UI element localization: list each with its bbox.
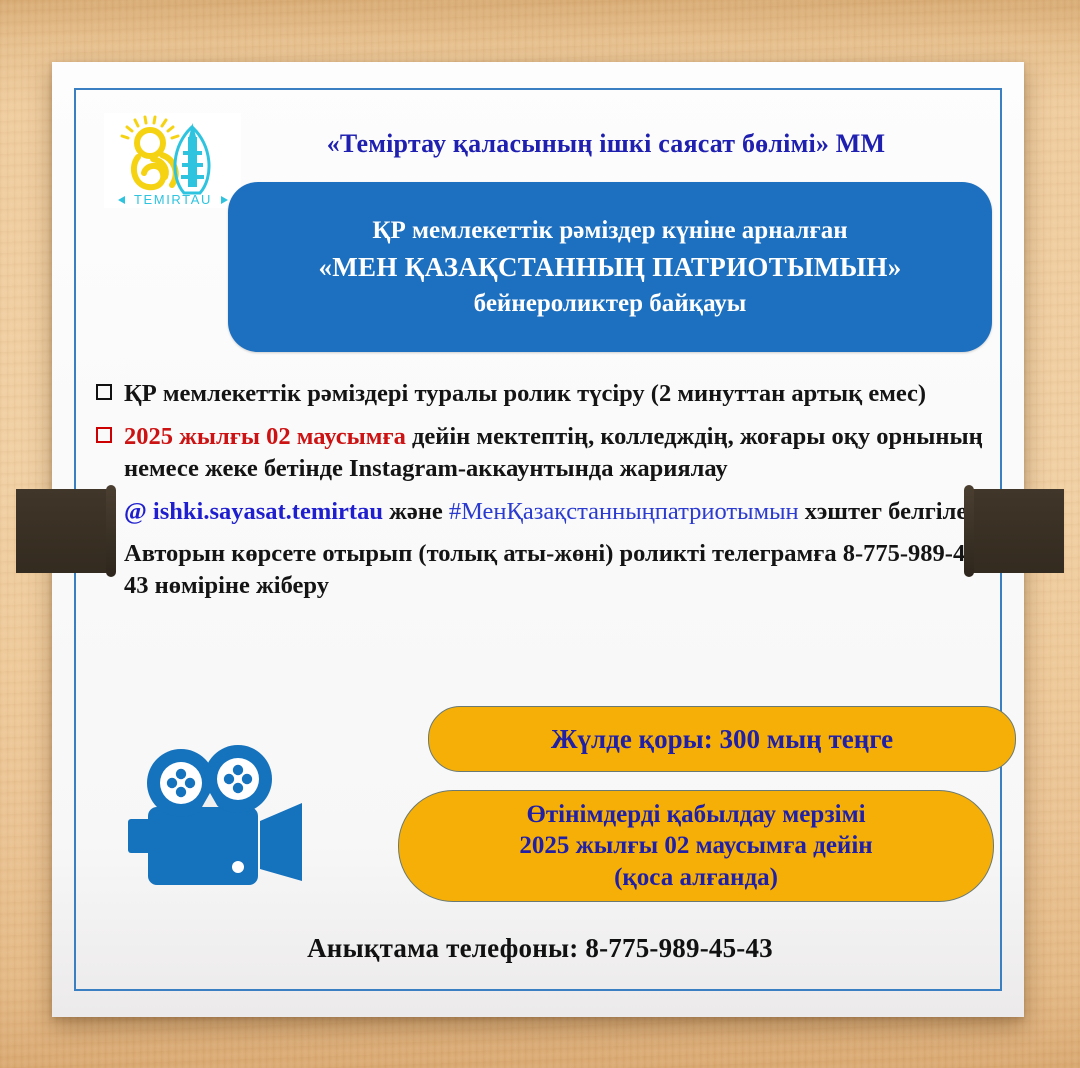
requirement-text: ҚР мемлекеттік рәміздері туралы ролик тү… <box>124 378 986 410</box>
logo-wordmark: TEMIRTAU <box>133 192 211 207</box>
requirement-text: Авторын көрсете отырып (толық аты-жөні) … <box>124 538 986 602</box>
organization-title: «Теміртау қаласының ішкі саясат бөлімі» … <box>248 129 964 159</box>
deadline-line-1: Өтінімдерді қабылдау мерзімі <box>526 799 865 831</box>
tower-icon <box>181 123 204 187</box>
temirtau-logo-svg: TEMIRTAU <box>108 115 238 207</box>
requirement-text-segment: @ ishki.sayasat.temirtau <box>124 498 383 525</box>
banner-line-1: ҚР мемлекеттік рәміздер күніне арналған <box>372 217 847 245</box>
requirement-text: 2025 жылғы 02 маусымға дейін мектептің, … <box>124 421 986 485</box>
requirement-text-segment: Авторын көрсете отырып (толық аты-жөні) … <box>124 540 986 599</box>
prize-fund-pill: Жүлде қоры: 300 мың теңге <box>428 706 1016 772</box>
requirement-text-segment: хэштег белгілеу <box>799 498 979 525</box>
temirtau-logo: TEMIRTAU <box>104 113 241 208</box>
deadline-pill: Өтінімдерді қабылдау мерзімі 2025 жылғы … <box>398 790 994 902</box>
binder-clip-left <box>16 489 112 573</box>
bullet-square-icon <box>96 384 112 400</box>
binder-clip-left-lip <box>106 485 116 577</box>
banner-line-2: «МЕН ҚАЗАҚСТАННЫҢ ПАТРИОТЫМЫН» <box>318 252 901 283</box>
contact-phone-line: Анықтама телефоны: 8-775-989-45-43 <box>0 933 1080 964</box>
requirement-text-segment: #МенҚазақстанныңпатриотымын <box>449 498 799 525</box>
requirement-text-segment: және <box>383 498 449 525</box>
requirements-list: ҚР мемлекеттік рәміздері туралы ролик тү… <box>96 378 986 613</box>
deadline-line-2: 2025 жылғы 02 маусымға дейін <box>519 830 872 862</box>
prize-fund-text: Жүлде қоры: 300 мың теңге <box>551 724 893 755</box>
requirement-text: @ ishki.sayasat.temirtau және #МенҚазақс… <box>124 496 986 528</box>
deadline-line-3: (қоса алғанда) <box>614 862 778 894</box>
binder-clip-right <box>968 489 1064 573</box>
requirement-item: 2025 жылғы 02 маусымға дейін мектептің, … <box>96 421 986 485</box>
movie-camera-svg <box>126 745 326 905</box>
logo-left-arrow-icon <box>118 196 125 204</box>
banner-line-3: бейнероликтер байқауы <box>474 290 747 318</box>
movie-camera-icon <box>126 745 326 905</box>
bullet-square-icon <box>96 427 112 443</box>
contest-banner: ҚР мемлекеттік рәміздер күніне арналған … <box>228 182 992 352</box>
requirement-text-segment: 2025 жылғы 02 маусымға <box>124 423 406 450</box>
logo-right-arrow-icon <box>221 196 228 204</box>
requirement-item: Авторын көрсете отырып (толық аты-жөні) … <box>96 538 986 602</box>
binder-clip-right-lip <box>964 485 974 577</box>
requirement-item: @ ishki.sayasat.temirtau және #МенҚазақс… <box>96 496 986 528</box>
requirement-item: ҚР мемлекеттік рәміздері туралы ролик тү… <box>96 378 986 410</box>
requirement-text-segment: ҚР мемлекеттік рәміздері туралы ролик тү… <box>124 380 926 407</box>
